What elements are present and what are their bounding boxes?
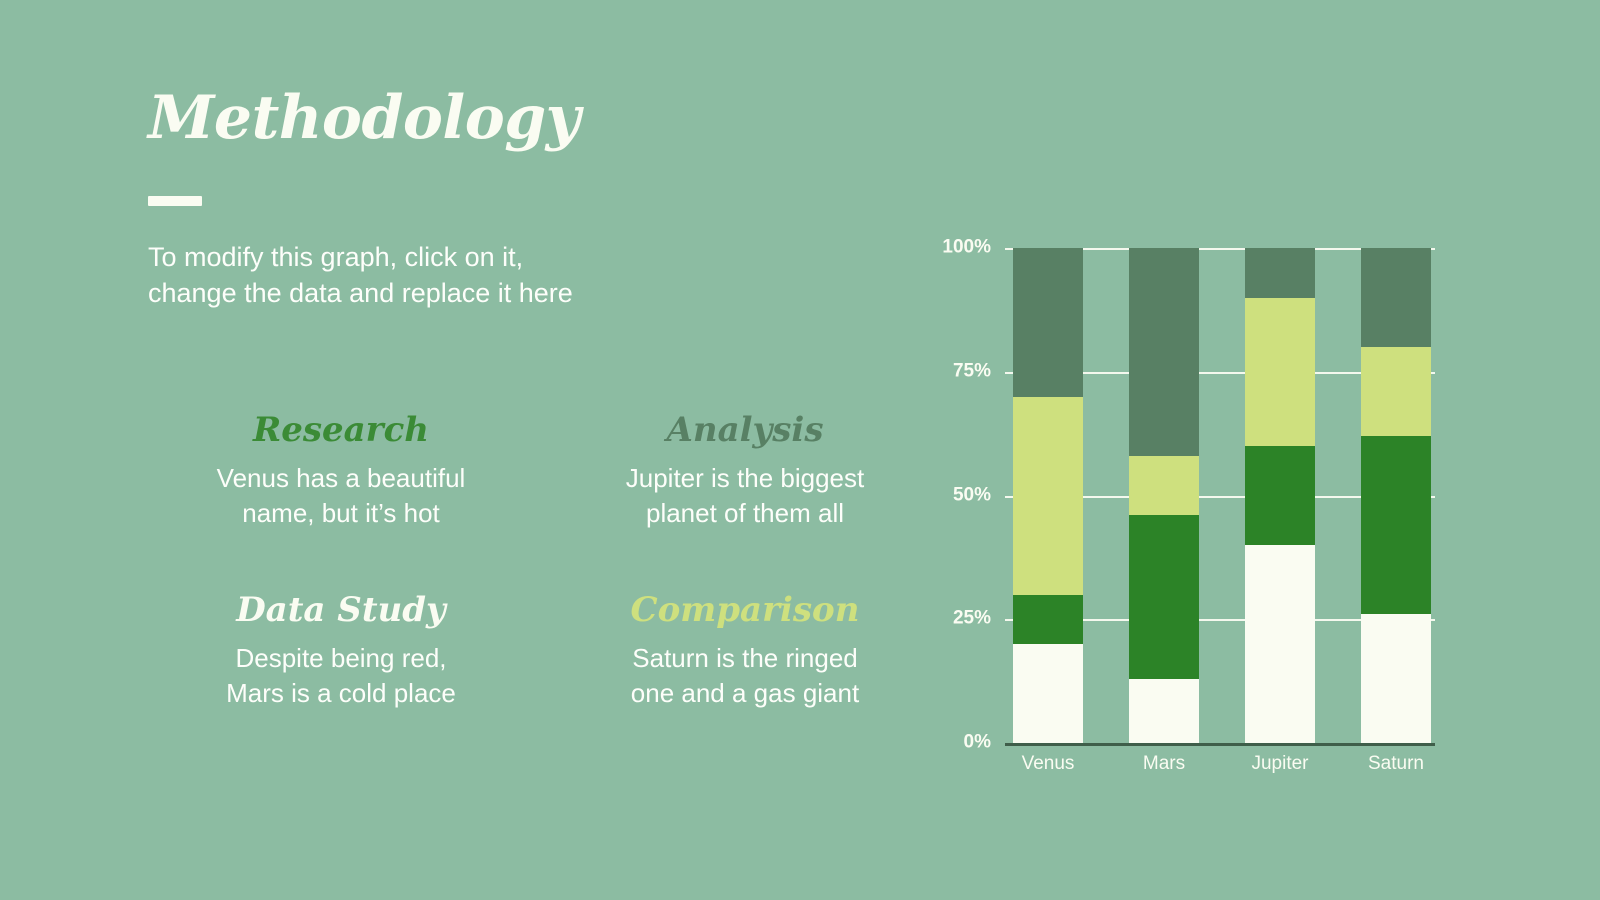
bar-segment <box>1013 595 1083 645</box>
feature-item-comparison: Comparison Saturn is the ringed one and … <box>552 592 938 712</box>
feature-title-data-study: Data Study <box>148 592 534 629</box>
feature-title-research: Research <box>148 412 534 449</box>
y-axis-tick-label: 25% <box>953 608 991 630</box>
chart-bars: VenusMarsJupiterSaturn <box>1005 248 1435 743</box>
x-axis-tick-label: Mars <box>1143 753 1185 775</box>
y-axis-tick-label: 0% <box>964 732 991 754</box>
bar-column-venus[interactable]: Venus <box>1013 248 1083 743</box>
bar-segment <box>1129 248 1199 456</box>
y-axis-tick-label: 100% <box>942 237 991 259</box>
bar-segment <box>1245 446 1315 545</box>
bar-segment <box>1361 347 1431 436</box>
bar-segment <box>1245 248 1315 298</box>
intro-paragraph: To modify this graph, click on it, chang… <box>148 240 938 311</box>
feature-grid: Research Venus has a beautiful name, but… <box>148 412 938 711</box>
bar-column-jupiter[interactable]: Jupiter <box>1245 248 1315 743</box>
bar-segment <box>1013 644 1083 743</box>
feature-item-research: Research Venus has a beautiful name, but… <box>148 412 534 532</box>
gridline-0: 0% <box>1005 743 1435 746</box>
feature-desc-analysis: Jupiter is the biggest planet of them al… <box>552 461 938 531</box>
stacked-bar-chart[interactable]: 100%75%50%25%0% VenusMarsJupiterSaturn <box>935 230 1455 780</box>
bar-column-saturn[interactable]: Saturn <box>1361 248 1431 743</box>
feature-item-data-study: Data Study Despite being red, Mars is a … <box>148 592 534 712</box>
x-axis-tick-label: Saturn <box>1368 753 1424 775</box>
y-axis-tick-label: 50% <box>953 484 991 506</box>
feature-item-analysis: Analysis Jupiter is the biggest planet o… <box>552 412 938 532</box>
feature-desc-research: Venus has a beautiful name, but it’s hot <box>148 461 534 531</box>
bar-segment <box>1129 679 1199 743</box>
bar-segment <box>1361 248 1431 347</box>
bar-column-mars[interactable]: Mars <box>1129 248 1199 743</box>
feature-desc-data-study: Despite being red, Mars is a cold place <box>148 641 534 711</box>
bar-segment <box>1129 515 1199 678</box>
page-title: Methodology <box>148 88 938 148</box>
bar-segment <box>1361 436 1431 614</box>
feature-title-analysis: Analysis <box>552 412 938 449</box>
title-underline-rule <box>148 196 202 206</box>
feature-desc-comparison: Saturn is the ringed one and a gas giant <box>552 641 938 711</box>
chart-plot-area: 100%75%50%25%0% VenusMarsJupiterSaturn <box>1005 248 1435 743</box>
bar-segment <box>1245 545 1315 743</box>
bar-segment <box>1013 397 1083 595</box>
y-axis-tick-label: 75% <box>953 360 991 382</box>
x-axis-tick-label: Venus <box>1022 753 1075 775</box>
bar-segment <box>1013 248 1083 397</box>
feature-title-comparison: Comparison <box>552 592 938 629</box>
bar-segment <box>1361 614 1431 743</box>
bar-segment <box>1245 298 1315 447</box>
left-content-column: Methodology To modify this graph, click … <box>148 88 938 311</box>
bar-segment <box>1129 456 1199 515</box>
x-axis-tick-label: Jupiter <box>1251 753 1308 775</box>
